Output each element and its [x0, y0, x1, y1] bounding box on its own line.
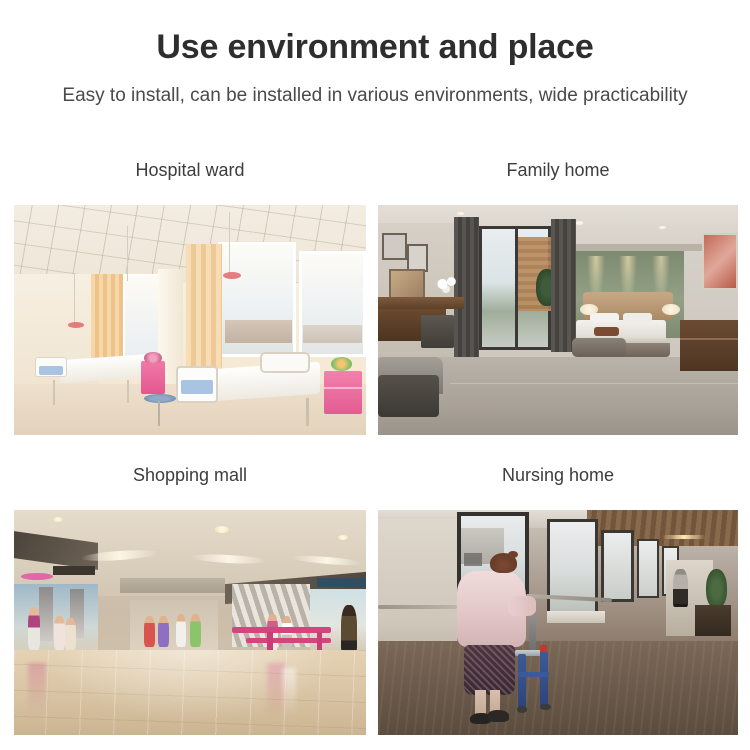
corridor-window-3 [601, 530, 633, 602]
ward-pink-cabinet-near [324, 371, 363, 415]
ward-curtain-center [186, 244, 221, 377]
home-desk-stool [421, 315, 453, 347]
ward-bed-far-leg-1 [53, 380, 55, 405]
ward-iv-pole-left [74, 274, 76, 325]
home-mirror [389, 269, 425, 299]
ward-cityscape-left [225, 320, 292, 343]
page-title: Use environment and place [0, 25, 750, 69]
ward-iv-pole-right [229, 212, 231, 274]
walker-wheel-1 [517, 706, 528, 713]
corridor-handrail-left [378, 605, 457, 610]
promo-page: Use environment and place Easy to instal… [0, 0, 750, 750]
nursing-home-photo [378, 510, 738, 735]
walker-frame-2 [540, 652, 548, 708]
ward-pink-cabinet-far [141, 361, 166, 393]
family-home-scene [378, 205, 738, 435]
mall-floor-glare [14, 650, 366, 736]
mall-mannequin-center-1 [144, 616, 155, 648]
mall-store-sign-left [53, 566, 95, 575]
nursing-home-scene [378, 510, 738, 735]
shopping-mall-scene [14, 510, 366, 735]
corridor-chairs [695, 605, 731, 637]
home-dresser-right [680, 320, 738, 371]
ward-cabinet-drawer-line [324, 387, 363, 389]
home-pillow-left [590, 313, 619, 322]
walker-handle [529, 616, 536, 652]
home-framed-photo-1 [382, 233, 407, 261]
home-ceiling-spotlight-2 [576, 221, 583, 224]
corridor-window-sill-1 [547, 611, 605, 622]
mall-mannequin-center-2 [158, 616, 169, 648]
corridor-floor-texture [378, 641, 738, 736]
page-subtitle: Easy to install, can be installed in var… [0, 83, 750, 109]
walker-cross-bar [518, 672, 549, 677]
resident-arm [508, 596, 537, 616]
family-home-photo [378, 205, 738, 435]
mall-store-sign-right [317, 578, 366, 587]
ward-stool-leg [158, 401, 160, 426]
mall-mannequin-center-3 [176, 614, 187, 648]
caption-nursing-home: Nursing home [378, 463, 738, 487]
home-framed-photo-2 [407, 244, 429, 272]
corridor-view-building-window [464, 553, 482, 567]
resident-shoe-2 [488, 710, 510, 721]
mall-mannequin-left-3 [65, 618, 76, 650]
home-dresser-drawer-line [680, 338, 738, 340]
mall-column-1 [39, 587, 53, 641]
ward-iv-pole-center [127, 226, 129, 281]
walker-wheel-2 [540, 704, 551, 711]
home-carpet-seam [450, 383, 738, 384]
ward-bed-near-leg [306, 398, 309, 426]
home-artwork-right [702, 233, 738, 291]
corridor-ceiling-light [662, 535, 705, 540]
ward-flowers-near [331, 357, 352, 371]
corridor-distant-resident [673, 569, 687, 607]
corridor-plant [706, 569, 728, 610]
caption-hospital-ward: Hospital ward [14, 158, 366, 182]
walker-frame-1 [518, 654, 526, 708]
mall-ceiling-panel [120, 578, 226, 594]
shopping-mall-photo [14, 510, 366, 735]
home-curtain-right [551, 219, 576, 352]
ward-cityscape-right [303, 325, 363, 343]
mall-shopper-3 [341, 605, 357, 655]
mall-shopper-2 [282, 616, 293, 650]
ward-bed-near-blue-panel [181, 380, 213, 394]
resident-skirt [464, 645, 514, 695]
mall-downlight-2 [215, 526, 229, 533]
home-ceiling-spotlight-3 [659, 226, 666, 229]
mall-pink-ring-light [21, 573, 53, 580]
ward-bed-far-blue-panel [39, 366, 64, 375]
home-bed-bench [572, 338, 626, 356]
ward-iv-lamp-right [223, 272, 241, 279]
home-orchid [428, 274, 464, 299]
ward-bed-near-headboard [260, 352, 309, 373]
ward-flowers-far [144, 352, 162, 364]
mall-mannequin-left-2 [54, 616, 65, 650]
ward-bed-far-leg-2 [127, 380, 129, 403]
caption-shopping-mall: Shopping mall [14, 463, 366, 487]
mall-mannequin-center-4 [190, 614, 201, 648]
home-sofa-seat [378, 375, 439, 416]
mall-mannequin-left-1 [28, 607, 40, 650]
home-door-mullion [515, 226, 518, 350]
home-bed-throw [594, 327, 619, 336]
home-pillow-right [623, 313, 652, 322]
hospital-ward-photo [14, 205, 366, 435]
hospital-ward-scene [14, 205, 366, 435]
corridor-window-4 [637, 539, 659, 598]
caption-family-home: Family home [378, 158, 738, 182]
home-console-table [378, 297, 464, 309]
